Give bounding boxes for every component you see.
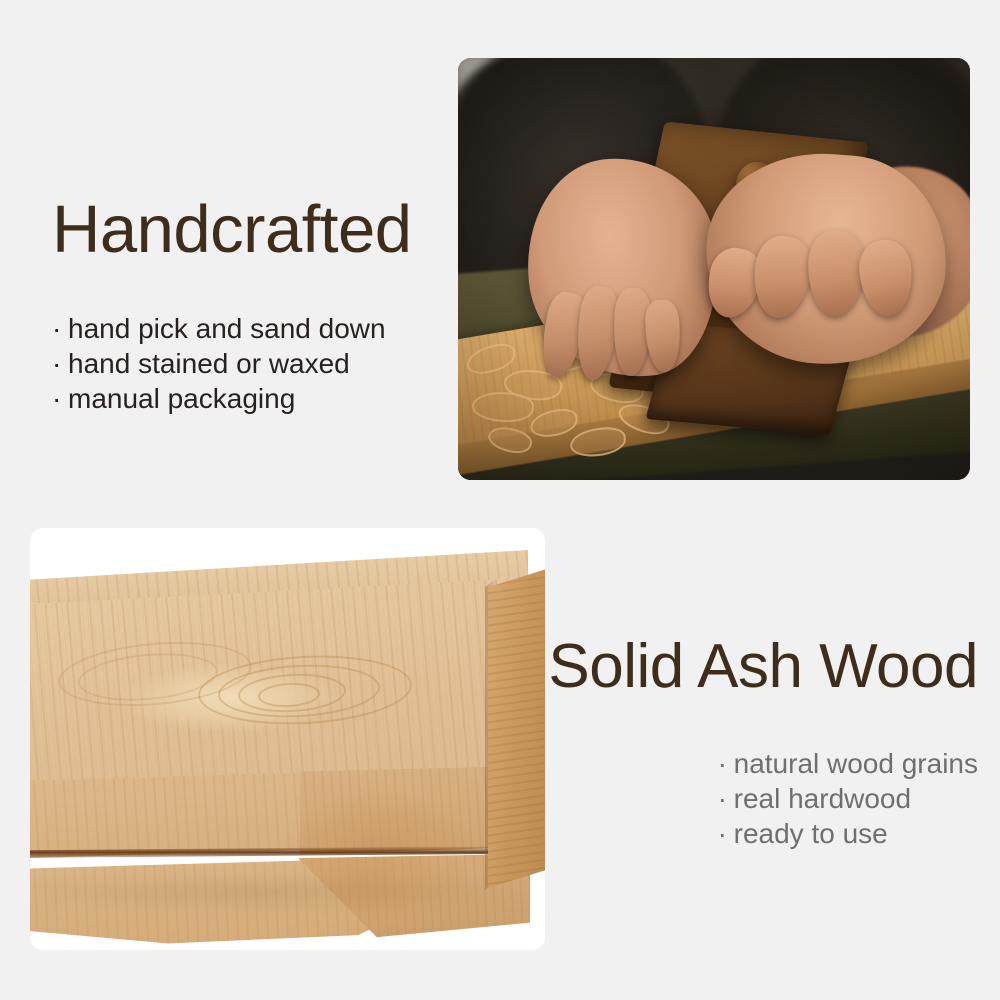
handcrafted-heading: Handcrafted (52, 196, 442, 263)
list-item: ·natural wood grains (718, 746, 978, 781)
left-hand-fingers (544, 286, 684, 396)
bullet-dot-icon: · (52, 311, 68, 346)
bullet-dot-icon: · (718, 781, 734, 816)
wood-end-grain-face (488, 568, 545, 888)
solid-ash-wood-block-photo (30, 528, 545, 950)
handcrafted-text-block: Handcrafted ·hand pick and sand down ·ha… (52, 196, 442, 416)
bullet-dot-icon: · (52, 346, 68, 381)
list-item: ·manual packaging (52, 381, 442, 416)
list-item: ·ready to use (718, 816, 978, 851)
wood-top-face (30, 578, 528, 796)
list-item: ·hand stained or waxed (52, 346, 442, 381)
bullet-dot-icon: · (718, 816, 734, 851)
woodworking-hand-plane-photo (458, 58, 970, 480)
solid-ash-wood-bullet-list: ·natural wood grains ·real hardwood ·rea… (718, 746, 978, 851)
list-item-label: ready to use (734, 818, 888, 849)
list-item-label: real hardwood (734, 783, 911, 814)
list-item: ·hand pick and sand down (52, 311, 442, 346)
list-item-label: hand pick and sand down (68, 313, 386, 344)
solid-ash-wood-text-block: Solid Ash Wood ·natural wood grains ·rea… (540, 636, 978, 851)
list-item-label: natural wood grains (734, 748, 978, 779)
product-feature-page: Handcrafted ·hand pick and sand down ·ha… (0, 0, 1000, 1000)
right-hand-knuckles (704, 226, 919, 356)
wood-contact-shadow (40, 880, 510, 910)
list-item: ·real hardwood (718, 781, 978, 816)
handcrafted-bullet-list: ·hand pick and sand down ·hand stained o… (52, 311, 442, 416)
solid-ash-wood-heading: Solid Ash Wood (540, 636, 978, 698)
list-item-label: hand stained or waxed (68, 348, 350, 379)
bullet-dot-icon: · (52, 381, 68, 416)
list-item-label: manual packaging (68, 383, 295, 414)
bullet-dot-icon: · (718, 746, 734, 781)
